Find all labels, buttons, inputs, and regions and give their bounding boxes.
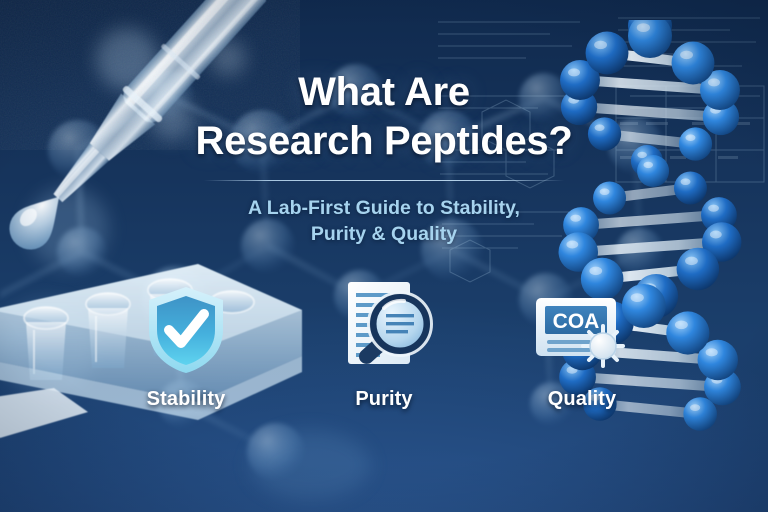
feature-label-stability: Stability [147, 388, 226, 411]
shield-check-icon [144, 278, 228, 376]
subtitle-line-2: Purity & Quality [0, 222, 768, 248]
title-divider [204, 180, 564, 181]
page-title-line-2: Research Peptides? [0, 121, 768, 161]
document-magnifier-icon [334, 278, 434, 376]
hero-banner: What Are Research Peptides? A Lab-First … [0, 0, 768, 512]
headline-block: What Are Research Peptides? A Lab-First … [0, 72, 768, 247]
feature-row: Stability [0, 278, 768, 411]
coa-certificate-icon: COA [530, 278, 634, 376]
feature-label-purity: Purity [355, 388, 412, 411]
feature-label-quality: Quality [548, 388, 617, 411]
feature-purity: Purity [326, 278, 442, 411]
feature-stability: Stability [128, 278, 244, 411]
page-title-line-1: What Are [0, 72, 768, 112]
feature-quality: COA [524, 278, 640, 411]
subtitle-line-1: A Lab-First Guide to Stability, [0, 196, 768, 222]
coa-card-text: COA [553, 310, 600, 333]
